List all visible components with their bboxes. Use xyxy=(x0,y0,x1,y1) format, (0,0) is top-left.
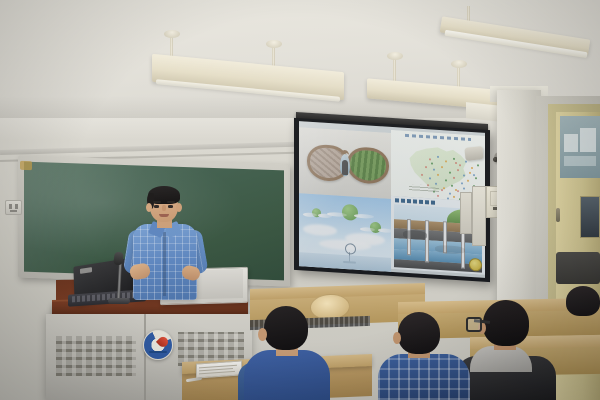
presenter-eyebrow xyxy=(153,201,161,203)
presenter-ear xyxy=(176,203,182,212)
classroom-photo xyxy=(0,0,600,400)
wall-speaker-icon xyxy=(464,146,483,161)
light-switch-plate[interactable] xyxy=(460,192,472,234)
presenter-mouth xyxy=(159,214,169,217)
slide-badge-icon xyxy=(469,258,482,272)
light-ceiling-cap xyxy=(387,52,403,60)
light-ceiling-cap xyxy=(451,60,467,68)
chair-back xyxy=(556,252,600,284)
eyeglasses-icon xyxy=(466,317,482,332)
well-shaft xyxy=(425,220,429,262)
slide-panel-sky-trees xyxy=(299,193,391,272)
wall-outlet-icon[interactable] xyxy=(5,200,22,215)
light-ceiling-cap xyxy=(266,40,282,48)
presenter-nose xyxy=(162,205,166,211)
door-handle-icon[interactable] xyxy=(556,208,560,222)
student-head xyxy=(566,286,600,316)
door-glass-panel xyxy=(560,116,600,178)
light-ceiling-cap xyxy=(164,30,180,38)
presenter-ear xyxy=(146,203,152,212)
student-head xyxy=(264,306,308,350)
podium-vent-panel xyxy=(56,336,136,376)
projection-screen[interactable] xyxy=(299,121,485,278)
microphone-base xyxy=(108,298,130,304)
student-ear xyxy=(258,328,267,341)
shirt-placket xyxy=(163,232,166,296)
board-corner-bracket-icon xyxy=(20,161,32,170)
wall-upper-band xyxy=(0,118,300,140)
student-body xyxy=(378,354,470,400)
student-head xyxy=(398,312,440,354)
presenter-eye xyxy=(168,205,173,208)
university-emblem xyxy=(143,330,173,360)
student-body xyxy=(244,350,330,400)
door-vision-panel xyxy=(580,196,600,238)
student-head xyxy=(483,300,529,346)
podium-door-seam xyxy=(144,314,146,400)
student-ear xyxy=(393,332,401,344)
presenter-eye xyxy=(154,205,159,208)
figure-silhouette xyxy=(342,160,348,175)
slide-panel-sunglasses xyxy=(299,127,391,199)
presenter-eyebrow xyxy=(167,201,175,203)
wall-panel xyxy=(472,186,486,246)
